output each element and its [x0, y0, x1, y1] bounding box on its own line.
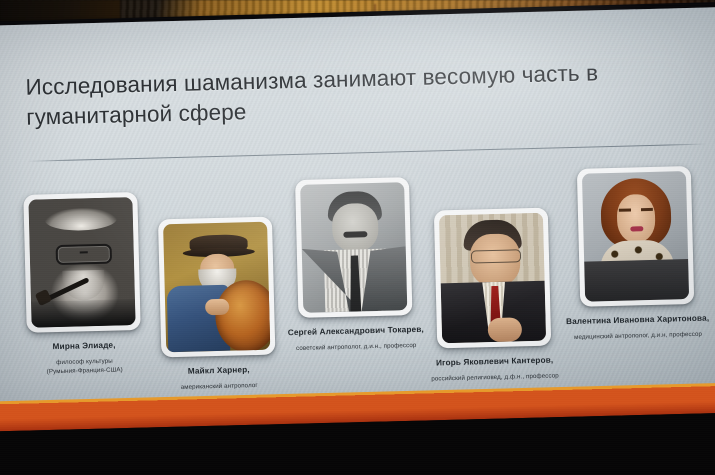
person-name: Майкл Харнер,	[153, 363, 285, 377]
portrait-photo-igor-kanterov	[439, 213, 546, 344]
person-card: Сергей Александрович Токарев, советский …	[282, 177, 426, 354]
person-description: философ культуры (Румыния-Франция-США)	[18, 357, 150, 378]
hair-highlight	[45, 207, 118, 231]
person-name: Валентина Ивановна Харитонова,	[562, 312, 714, 327]
person-card: Валентина Ивановна Харитонова, медицинск…	[558, 165, 714, 343]
face-shape	[616, 194, 655, 243]
person-card: Майкл Харнер, американский антрополог	[149, 216, 285, 393]
dress-shape	[584, 259, 689, 302]
person-name: Мирна Элиаде,	[18, 339, 150, 353]
person-description: медицинский антрополог, д.и.н, профессор	[562, 330, 714, 343]
lips-shape	[630, 226, 643, 231]
person-description: российский религиовед, д.ф.н., профессор	[425, 372, 565, 384]
presentation-slide: Исследования шаманизма занимают весомую …	[0, 7, 715, 426]
slide-surface: Исследования шаманизма занимают весомую …	[0, 7, 715, 426]
screenshot-stage: Исследования шаманизма занимают весомую …	[0, 0, 715, 475]
mustache-shape	[343, 231, 367, 238]
person-description: американский антрополог	[153, 381, 285, 393]
photo-frame	[295, 177, 412, 318]
person-card: Мирна Элиаде, философ культуры (Румыния-…	[14, 192, 151, 378]
portrait-photo-valentina-kharitonova	[582, 171, 689, 302]
portrait-photo-sergey-tokarev	[300, 182, 407, 313]
portrait-photo-michael-harner	[163, 222, 270, 353]
slide-title: Исследования шаманизма занимают весомую …	[25, 56, 686, 133]
face-shape	[332, 203, 379, 252]
photo-shadow	[31, 299, 136, 328]
glasses-icon	[471, 249, 521, 263]
photo-frame	[577, 166, 694, 307]
portrait-photo-mircea-eliade	[28, 197, 135, 328]
person-card: Игорь Яковлевич Кантеров, российский рел…	[421, 207, 565, 384]
person-name: Игорь Яковлевич Кантеров,	[425, 354, 565, 369]
photo-frame	[434, 208, 551, 349]
glasses-icon	[56, 244, 112, 265]
photo-frame	[23, 192, 140, 333]
hand-shape	[488, 317, 523, 342]
person-description: советский антрополог, д.и.н., профессор	[286, 342, 426, 354]
photo-frame	[158, 217, 275, 358]
title-divider	[27, 144, 707, 162]
person-name: Сергей Александрович Токарев,	[286, 324, 426, 339]
hand-shape	[205, 299, 229, 316]
